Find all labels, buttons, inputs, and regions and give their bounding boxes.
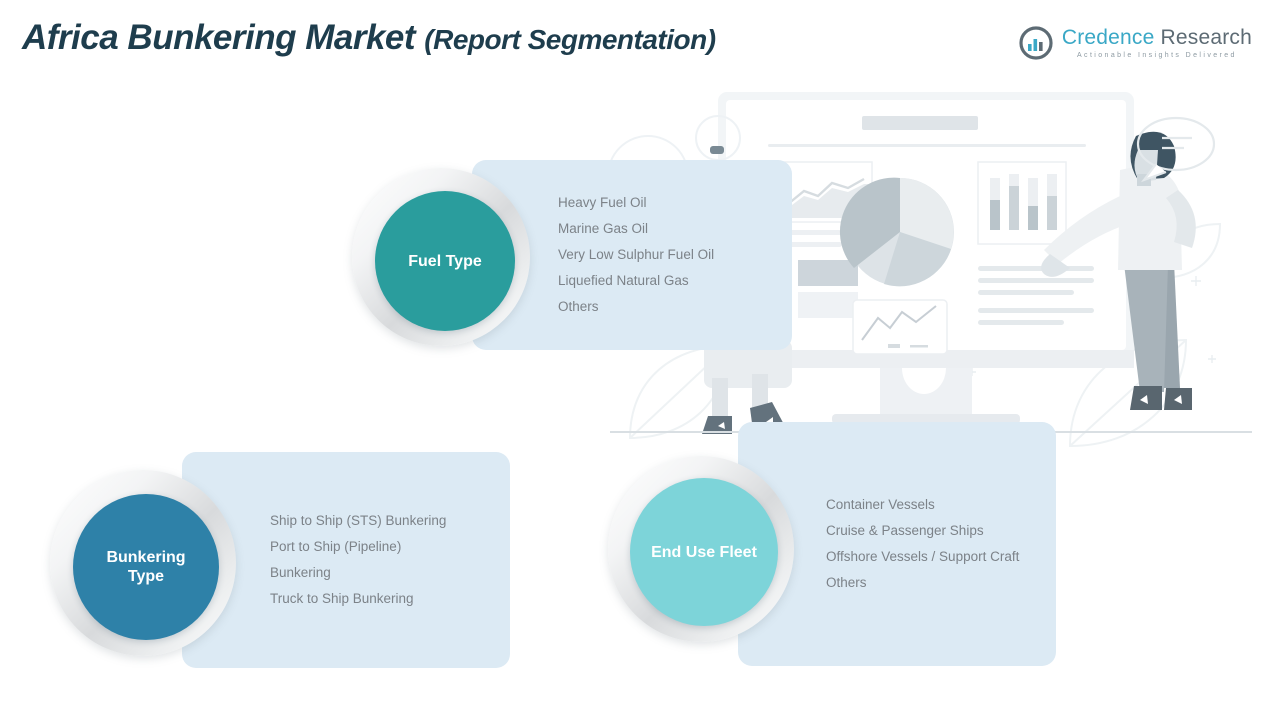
segment-circle-end-use-fleet[interactable]: End Use Fleet <box>630 478 778 626</box>
segment-circle-bunkering-type[interactable]: Bunkering Type <box>73 494 219 640</box>
list-item: Liquefied Natural Gas <box>558 268 774 294</box>
list-item: Marine Gas Oil <box>558 216 774 242</box>
list-item: Ship to Ship (STS) Bunkering <box>270 508 492 534</box>
list-item: Port to Ship (Pipeline) Bunkering <box>270 534 492 586</box>
list-item: Truck to Ship Bunkering <box>270 586 492 612</box>
page-title-main: Africa Bunkering Market <box>22 18 424 57</box>
screen-title-bar <box>862 116 978 130</box>
list-item: Cruise & Passenger Ships <box>826 518 1038 544</box>
segment-circle-fuel-type[interactable]: Fuel Type <box>375 191 515 331</box>
page-title: Africa Bunkering Market (Report Segmenta… <box>22 18 716 58</box>
list-item: Others <box>558 294 774 320</box>
credence-bar-chart-logo-icon <box>1019 26 1053 60</box>
screen-image-block <box>798 260 858 286</box>
list-item: Container Vessels <box>826 492 1038 518</box>
list-item: Others <box>826 570 1038 596</box>
segment-bunkering-type[interactable]: Ship to Ship (STS) Bunkering Port to Shi… <box>50 452 510 672</box>
brand-logo: Credence Research Actionable Insights De… <box>1019 26 1252 60</box>
page-title-subtitle: (Report Segmentation) <box>424 24 715 55</box>
list-item: Offshore Vessels / Support Craft <box>826 544 1038 570</box>
segment-fuel-type[interactable]: Heavy Fuel Oil Marine Gas Oil Very Low S… <box>352 160 792 360</box>
brand-name-word2: Research <box>1154 26 1252 49</box>
list-item: Heavy Fuel Oil <box>558 190 774 216</box>
screen-divider <box>768 144 1086 147</box>
brand-tagline: Actionable Insights Delivered <box>1062 52 1252 59</box>
list-item: Very Low Sulphur Fuel Oil <box>558 242 774 268</box>
brand-wordmark: Credence Research Actionable Insights De… <box>1062 27 1252 59</box>
brand-name: Credence Research <box>1062 27 1252 48</box>
line-chart <box>853 300 947 354</box>
infographic-canvas: Africa Bunkering Market (Report Segmenta… <box>0 0 1280 720</box>
bar-chart <box>978 162 1066 244</box>
segment-end-use-fleet[interactable]: Container Vessels Cruise & Passenger Shi… <box>608 422 1056 670</box>
brand-name-word1: Credence <box>1062 26 1155 49</box>
